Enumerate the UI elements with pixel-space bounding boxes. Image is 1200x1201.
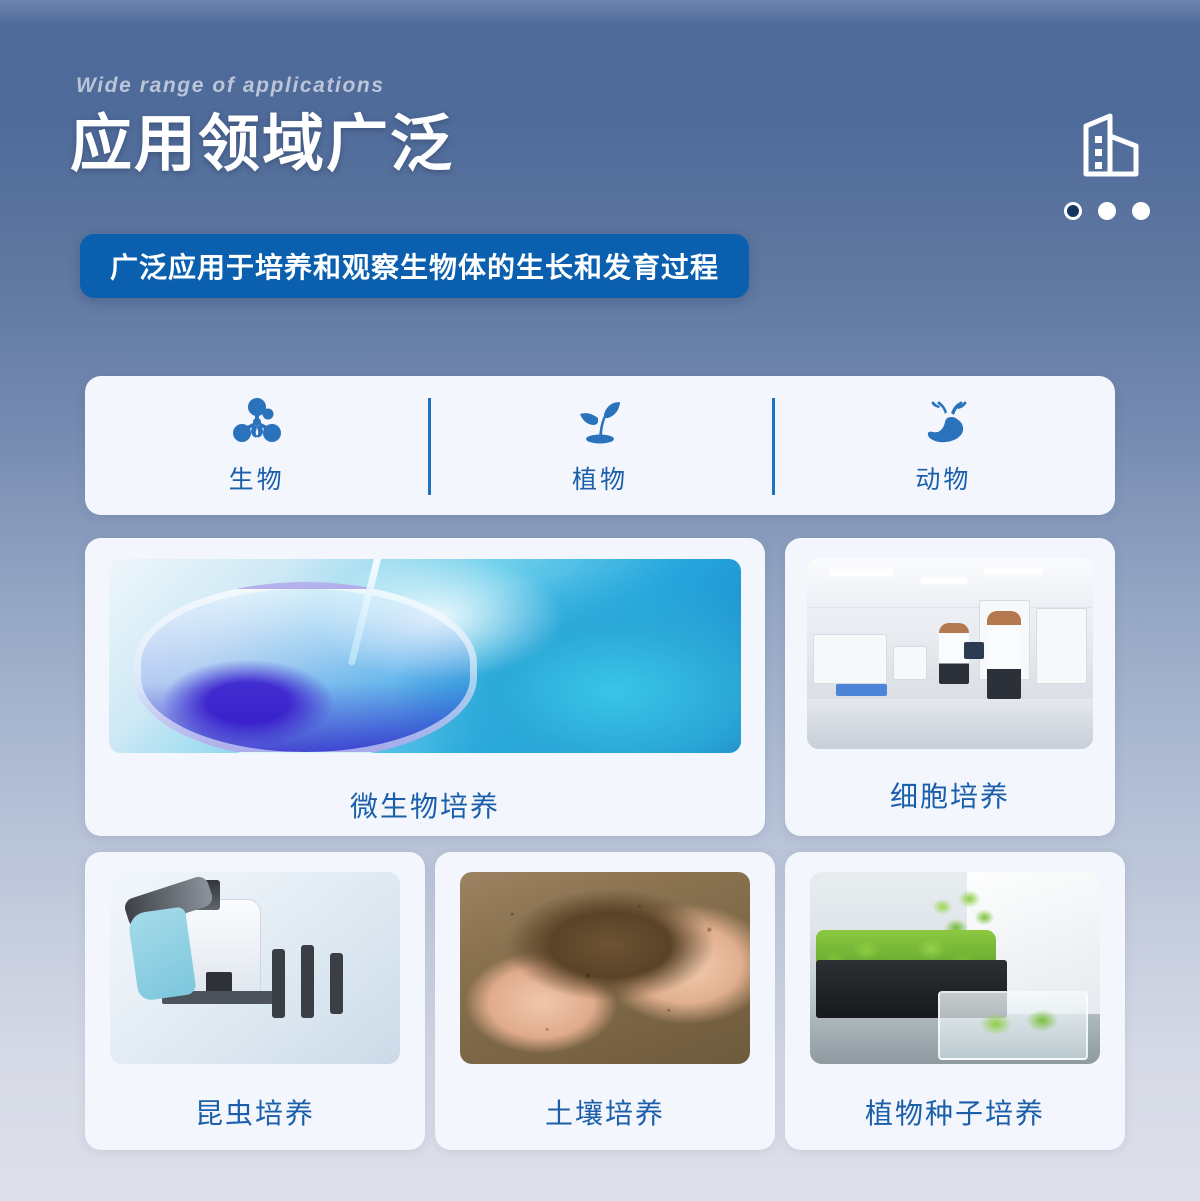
category-item-animal[interactable]: 动物	[772, 376, 1115, 515]
carousel-dot-3[interactable]	[1132, 202, 1150, 220]
subtitle-banner: 广泛应用于培养和观察生物体的生长和发育过程	[80, 234, 749, 298]
category-label-biology: 生物	[229, 460, 285, 496]
page-title: 应用领域广泛	[70, 112, 454, 179]
application-card-soil[interactable]: 土壤培养	[435, 852, 775, 1150]
page-eyebrow: Wide range of applications	[76, 74, 385, 98]
card-caption-cell: 细胞培养	[890, 775, 1010, 815]
card-caption-microbe: 微生物培养	[350, 785, 500, 825]
application-card-seed[interactable]: 植物种子培养	[785, 852, 1125, 1150]
application-card-cell[interactable]: 细胞培养	[785, 538, 1115, 836]
carousel-dots[interactable]	[1064, 202, 1150, 220]
category-item-plant[interactable]: 植物	[428, 376, 771, 515]
subtitle-banner-text: 广泛应用于培养和观察生物体的生长和发育过程	[110, 246, 719, 286]
category-item-biology[interactable]: 生物	[85, 376, 428, 515]
category-panel: 生物 植物	[85, 376, 1115, 515]
application-card-microbe[interactable]: 微生物培养	[85, 538, 765, 836]
card-photo-seed	[810, 872, 1100, 1064]
carousel-dot-1[interactable]	[1064, 202, 1082, 220]
sprout-icon	[573, 396, 627, 446]
card-caption-insect: 昆虫培养	[195, 1092, 315, 1132]
application-card-insect[interactable]: 昆虫培养	[85, 852, 425, 1150]
carousel-dot-2[interactable]	[1098, 202, 1116, 220]
building-icon	[1080, 112, 1144, 178]
molecule-icon	[230, 396, 284, 446]
card-caption-seed: 植物种子培养	[865, 1092, 1045, 1132]
category-label-animal: 动物	[915, 460, 971, 496]
category-label-plant: 植物	[572, 460, 628, 496]
card-photo-cell	[807, 558, 1093, 749]
deer-head-icon	[916, 396, 970, 446]
card-caption-soil: 土壤培养	[545, 1092, 665, 1132]
card-photo-soil	[460, 872, 750, 1064]
card-photo-microbe	[109, 559, 741, 753]
card-photo-insect	[110, 872, 400, 1064]
application-domains-page: Wide range of applications 应用领域广泛 广泛应用于培…	[0, 0, 1200, 1201]
